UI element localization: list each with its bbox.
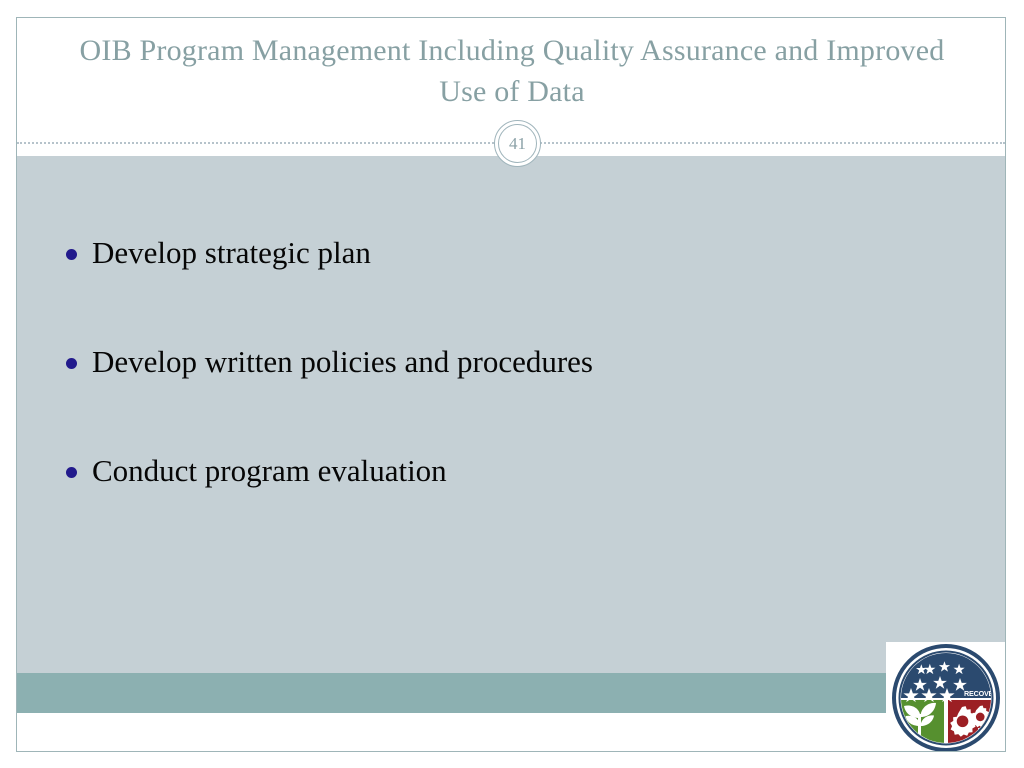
slide-body: Develop strategic plan Develop written p…	[17, 156, 1005, 713]
logo-wordmark: RECOVERY.GOV	[964, 689, 1000, 698]
footer-accent-bar	[17, 673, 1005, 713]
recovery-gov-seal-icon: RECOVERY.GOV	[892, 644, 1000, 752]
list-item: Develop strategic plan	[47, 234, 927, 272]
bullet-dot-icon	[66, 467, 77, 478]
list-item-label: Conduct program evaluation	[92, 453, 447, 488]
recovery-gov-logo: RECOVERY.GOV	[886, 642, 1006, 752]
slide-canvas: OIB Program Management Including Quality…	[16, 17, 1006, 752]
bullet-list: Develop strategic plan Develop written p…	[47, 234, 927, 561]
page-number-label: 41	[495, 121, 540, 166]
list-item-label: Develop written policies and procedures	[92, 344, 593, 379]
list-item: Conduct program evaluation	[47, 452, 927, 490]
list-item-label: Develop strategic plan	[92, 235, 371, 270]
list-item: Develop written policies and procedures	[47, 343, 927, 381]
bullet-dot-icon	[66, 249, 77, 260]
bullet-dot-icon	[66, 358, 77, 369]
page-number-badge: 41	[494, 120, 541, 167]
page-title: OIB Program Management Including Quality…	[57, 30, 967, 112]
